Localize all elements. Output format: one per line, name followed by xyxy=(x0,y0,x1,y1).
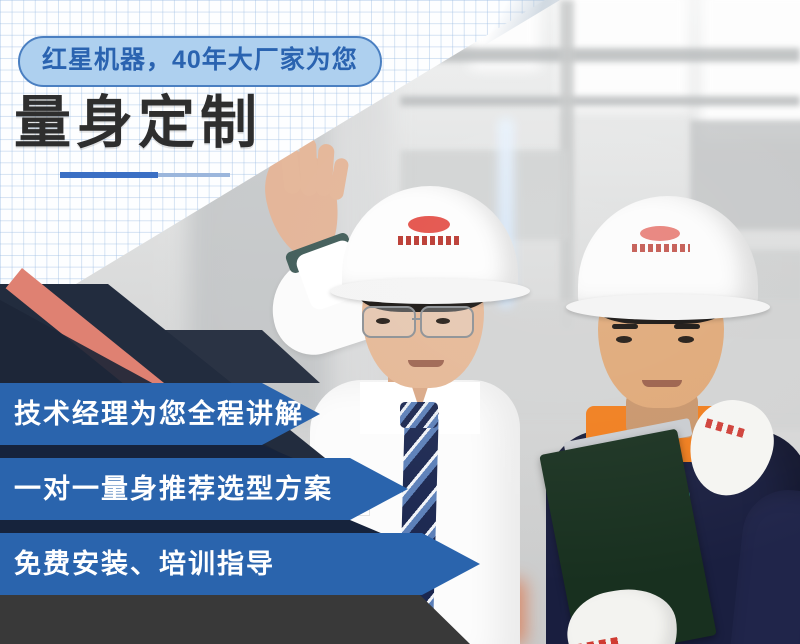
feature-bar-1: 技术经理为您全程讲解 xyxy=(0,383,320,445)
brand-badge: 红星机器，40年大厂家为您 xyxy=(18,36,382,87)
feature-bar-1-label: 技术经理为您全程讲解 xyxy=(0,401,304,428)
feature-bar-2-label: 一对一量身推荐选型方案 xyxy=(0,476,333,503)
underline-segment-dark xyxy=(60,172,158,178)
feature-bar-3: 免费安装、培训指导 xyxy=(0,533,480,595)
underline-segment-light xyxy=(158,173,230,177)
promo-banner: 红星机器，40年大厂家为您 量身定制 技术经理为您全程讲解 一对一量身推荐选型方… xyxy=(0,0,800,644)
base-gray-strip xyxy=(0,595,470,644)
feature-bar-2: 一对一量身推荐选型方案 xyxy=(0,458,408,520)
feature-bar-3-label: 免费安装、培训指导 xyxy=(0,551,275,578)
page-title: 量身定制 xyxy=(14,92,262,156)
headline-underline xyxy=(60,172,230,180)
